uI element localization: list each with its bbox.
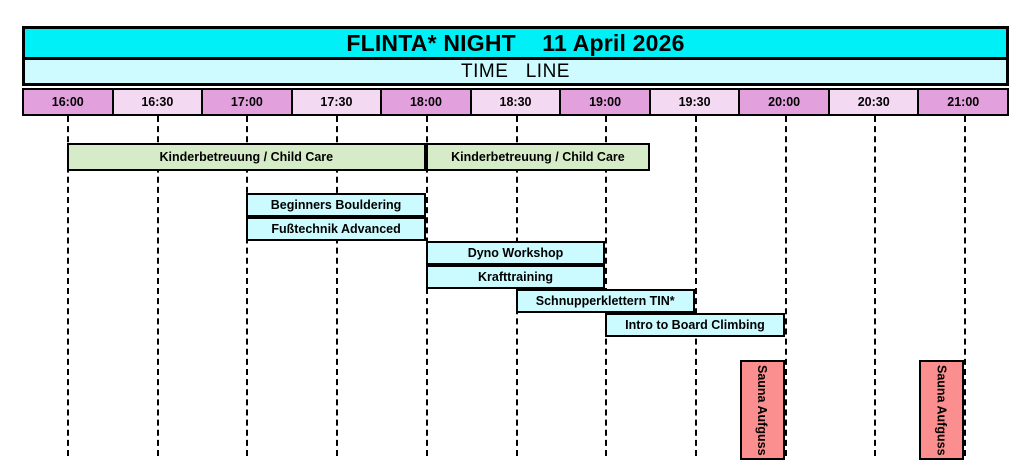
time-label: 18:00: [410, 95, 442, 109]
time-column-1930: 19:30: [651, 90, 741, 114]
page-title: FLINTA* NIGHT 11 April 2026: [346, 30, 684, 57]
event-bar[interactable]: Intro to Board Climbing: [605, 313, 784, 337]
event-bar[interactable]: Fußtechnik Advanced: [246, 217, 425, 241]
event-bar[interactable]: Kinderbetreuung / Child Care: [426, 143, 650, 171]
time-column-1900: 19:00: [561, 90, 651, 114]
time-label: 18:30: [500, 95, 532, 109]
event-label: Kinderbetreuung / Child Care: [451, 150, 625, 164]
time-column-1830: 18:30: [472, 90, 562, 114]
event-label: Fußtechnik Advanced: [271, 222, 400, 236]
event-label: Beginners Bouldering: [271, 198, 402, 212]
event-bar[interactable]: Schnupperklettern TIN*: [516, 289, 695, 313]
gridline-tick-2015: [785, 116, 787, 456]
time-column-1630: 16:30: [114, 90, 204, 114]
event-label: Sauna Aufguss: [755, 365, 769, 456]
time-label: 21:00: [947, 95, 979, 109]
time-axis-header: 16:0016:3017:0017:3018:0018:3019:0019:30…: [22, 88, 1009, 116]
event-bar[interactable]: Dyno Workshop: [426, 241, 605, 265]
time-column-1800: 18:00: [382, 90, 472, 114]
time-label: 19:30: [679, 95, 711, 109]
event-label: Krafttraining: [478, 270, 553, 284]
time-label: 16:30: [141, 95, 173, 109]
title-bar: FLINTA* NIGHT 11 April 2026: [22, 26, 1009, 60]
event-label: Intro to Board Climbing: [625, 318, 765, 332]
time-label: 20:30: [858, 95, 890, 109]
time-column-1600: 16:00: [24, 90, 114, 114]
time-column-2030: 20:30: [830, 90, 920, 114]
gridline-tick-2115: [964, 116, 966, 456]
timeline-grid: Kinderbetreuung / Child CareKinderbetreu…: [22, 116, 1009, 456]
subtitle-label: TIME LINE: [461, 61, 570, 83]
time-label: 17:00: [231, 95, 263, 109]
event-label: Kinderbetreuung / Child Care: [159, 150, 333, 164]
gridline-tick-1945: [695, 116, 697, 456]
time-label: 20:00: [768, 95, 800, 109]
event-bar[interactable]: Kinderbetreuung / Child Care: [67, 143, 426, 171]
time-column-1730: 17:30: [293, 90, 383, 114]
poster-header: FLINTA* NIGHT 11 April 2026 TIME LINE: [22, 26, 1009, 86]
time-label: 19:00: [589, 95, 621, 109]
event-bar[interactable]: Beginners Bouldering: [246, 193, 425, 217]
subtitle-bar: TIME LINE: [22, 60, 1009, 86]
timeline-poster: FLINTA* NIGHT 11 April 2026 TIME LINE 16…: [0, 0, 1031, 473]
time-column-2000: 20:00: [740, 90, 830, 114]
time-column-2100: 21:00: [919, 90, 1007, 114]
event-label: Dyno Workshop: [468, 246, 564, 260]
time-label: 16:00: [52, 95, 84, 109]
event-label: Schnupperklettern TIN*: [536, 294, 675, 308]
event-bar[interactable]: Sauna Aufguss: [740, 360, 785, 460]
event-bar[interactable]: Krafttraining: [426, 265, 605, 289]
event-bar[interactable]: Sauna Aufguss: [919, 360, 964, 460]
gridline-tick-2045: [874, 116, 876, 456]
event-label: Sauna Aufguss: [935, 365, 949, 456]
time-label: 17:30: [320, 95, 352, 109]
time-column-1700: 17:00: [203, 90, 293, 114]
